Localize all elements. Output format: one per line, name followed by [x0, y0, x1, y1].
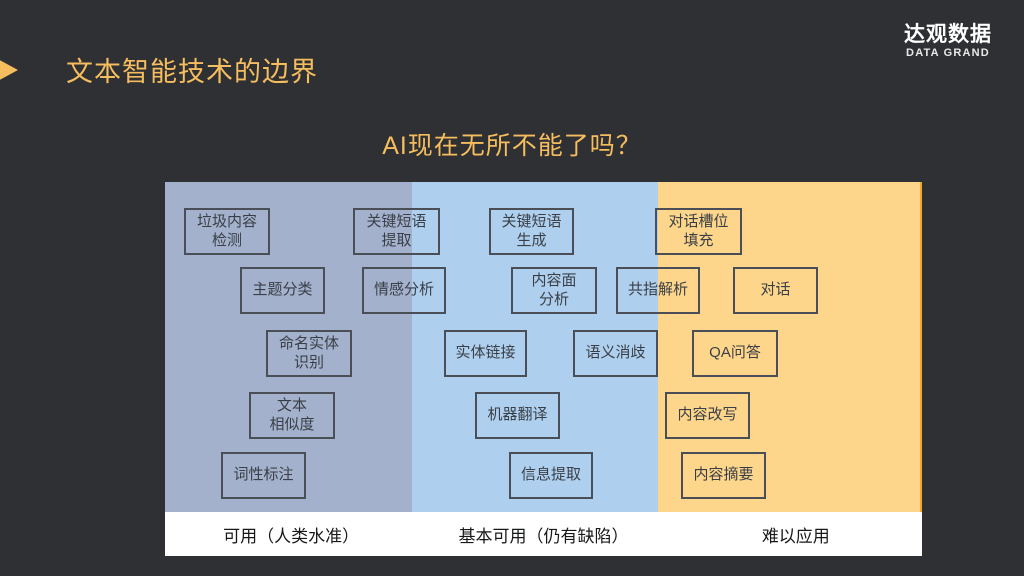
chart-subtitle: AI现在无所不能了吗？ — [0, 126, 1024, 162]
brand-logo-en: DATA GRAND — [904, 48, 992, 59]
task-box-label: 对话槽位 填充 — [668, 213, 728, 250]
legend-label-2: 基本可用（仍有缺陷） — [417, 512, 669, 556]
capability-chart: 垃圾内容 检测关键短语 提取关键短语 生成对话槽位 填充主题分类情感分析内容面 … — [165, 182, 922, 512]
task-box-label: 对话 — [760, 281, 790, 299]
task-box: 共指解析 — [616, 267, 700, 314]
task-box-label: 命名实体 识别 — [279, 335, 339, 372]
legend-strip: 可用（人类水准）基本可用（仍有缺陷）难以应用 — [165, 512, 922, 556]
task-box: 关键短语 生成 — [489, 208, 574, 255]
task-box: 垃圾内容 检测 — [184, 208, 270, 255]
legend-label-3: 难以应用 — [670, 512, 922, 556]
task-box-label: 内容面 分析 — [531, 272, 576, 309]
task-box-label: 内容改写 — [677, 406, 737, 424]
task-box: 关键短语 提取 — [353, 208, 440, 255]
legend-label-1: 可用（人类水准） — [165, 512, 417, 556]
task-box-label: 主题分类 — [252, 281, 312, 299]
brand-logo: 达观数据 DATA GRAND — [904, 24, 992, 59]
task-box-label: 文本 相似度 — [269, 397, 314, 434]
task-box: 对话槽位 填充 — [655, 208, 742, 255]
brand-logo-cn: 达观数据 — [904, 24, 992, 45]
task-box-label: 共指解析 — [628, 281, 688, 299]
task-box: 情感分析 — [362, 267, 446, 314]
task-box: 词性标注 — [221, 452, 306, 499]
task-box: 机器翻译 — [475, 392, 560, 439]
task-box: 信息提取 — [509, 452, 593, 499]
task-box: 实体链接 — [444, 330, 527, 377]
task-box-label: 垃圾内容 检测 — [197, 213, 257, 250]
task-box: 命名实体 识别 — [266, 330, 352, 377]
task-box: 文本 相似度 — [249, 392, 335, 439]
task-box-label: QA问答 — [709, 344, 761, 362]
task-box: 主题分类 — [240, 267, 325, 314]
task-box-label: 词性标注 — [233, 466, 293, 484]
task-box-label: 关键短语 提取 — [366, 213, 426, 250]
task-box: 内容面 分析 — [511, 267, 597, 314]
task-box-label: 语义消歧 — [585, 344, 645, 362]
task-box-label: 内容摘要 — [693, 466, 753, 484]
task-box: 语义消歧 — [573, 330, 658, 377]
task-box-label: 实体链接 — [455, 344, 515, 362]
task-box: 内容改写 — [665, 392, 750, 439]
task-box-label: 信息提取 — [521, 466, 581, 484]
page-title: 文本智能技术的边界 — [66, 50, 318, 89]
task-box: 内容摘要 — [681, 452, 766, 499]
task-box: QA问答 — [692, 330, 778, 377]
chevron-right-icon — [0, 44, 18, 96]
task-box: 对话 — [733, 267, 818, 314]
task-box-label: 关键短语 生成 — [501, 213, 561, 250]
task-box-label: 机器翻译 — [487, 406, 547, 424]
task-box-label: 情感分析 — [374, 281, 434, 299]
